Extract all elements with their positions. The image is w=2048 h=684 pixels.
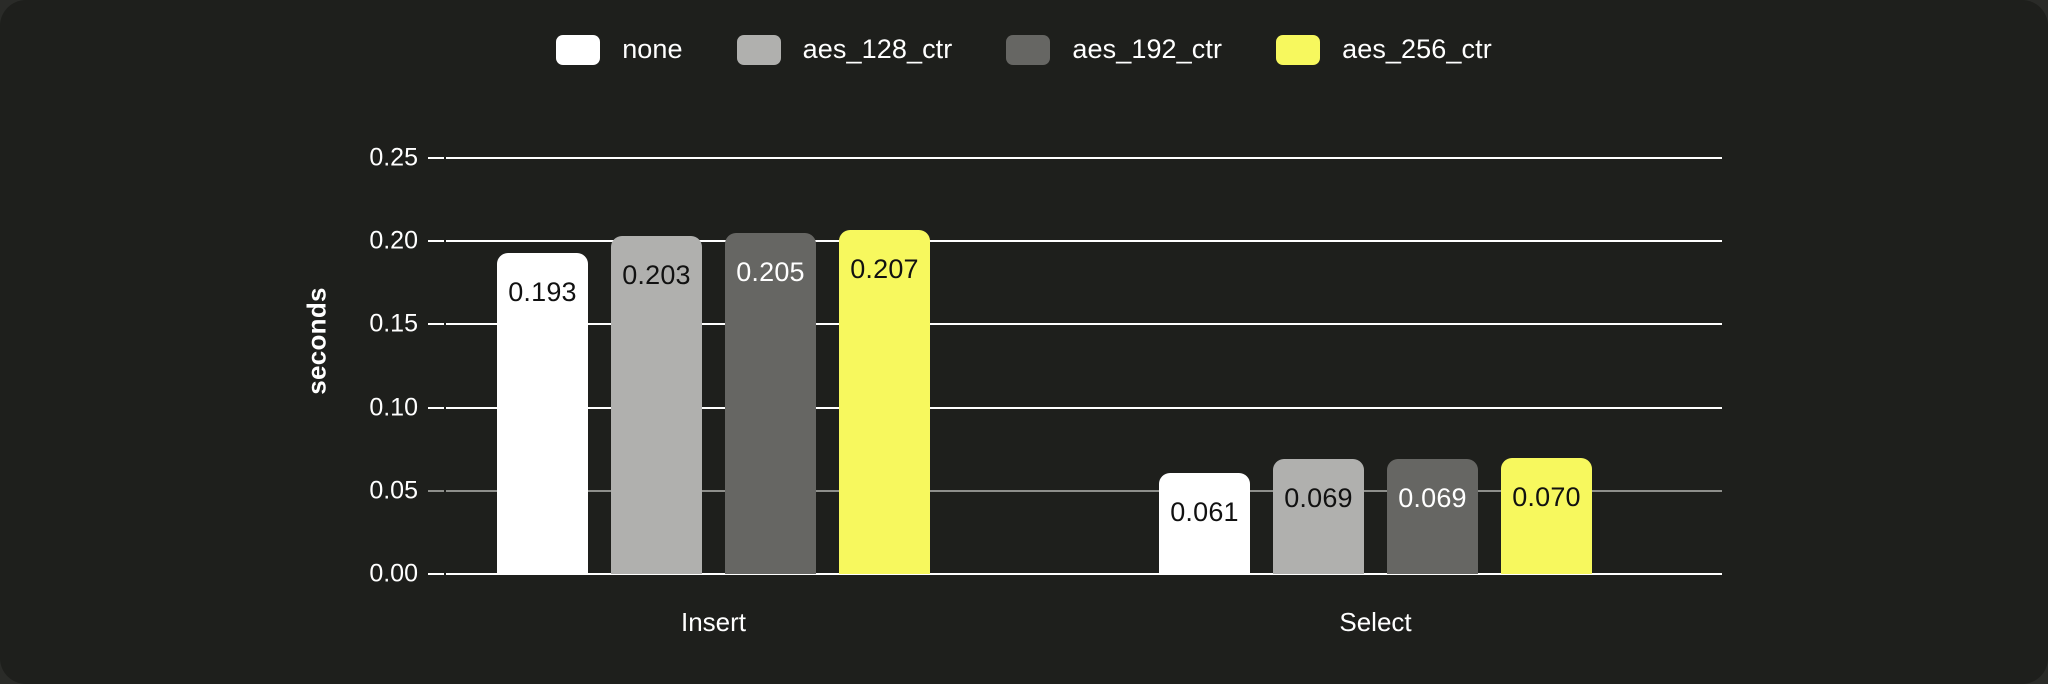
bar-insert-none[interactable]: 0.193 <box>497 253 588 574</box>
bar-insert-aes-128-ctr[interactable]: 0.203 <box>611 236 702 574</box>
legend-swatch-none <box>556 35 600 65</box>
bar-value-label: 0.069 <box>1387 483 1478 514</box>
y-tick-mark-0.10 <box>428 407 444 409</box>
gridline-0.25 <box>446 157 1722 159</box>
bar-select-aes-256-ctr[interactable]: 0.070 <box>1501 458 1592 574</box>
bar-value-label: 0.061 <box>1159 497 1250 528</box>
legend-label-aes-256-ctr: aes_256_ctr <box>1342 34 1492 65</box>
legend-item-aes-192-ctr[interactable]: aes_192_ctr <box>1006 34 1222 65</box>
plot-area: 0.000.050.100.150.200.25 0.1930.2030.205… <box>446 158 1722 574</box>
legend-label-none: none <box>622 34 682 65</box>
legend-label-aes-192-ctr: aes_192_ctr <box>1072 34 1222 65</box>
bar-value-label: 0.193 <box>497 277 588 308</box>
x-axis-label-insert: Insert <box>564 607 864 638</box>
chart-legend: none aes_128_ctr aes_192_ctr aes_256_ctr <box>0 34 2048 65</box>
legend-item-none[interactable]: none <box>556 34 682 65</box>
bar-value-label: 0.069 <box>1273 483 1364 514</box>
legend-item-aes-256-ctr[interactable]: aes_256_ctr <box>1276 34 1492 65</box>
bar-value-label: 0.207 <box>839 254 930 285</box>
y-axis-label: seconds <box>302 287 333 395</box>
bar-value-label: 0.070 <box>1501 482 1592 513</box>
y-tick-label-0.15: 0.15 <box>298 310 418 339</box>
y-tick-label-0.10: 0.10 <box>298 393 418 422</box>
chart-container: none aes_128_ctr aes_192_ctr aes_256_ctr… <box>0 0 2048 684</box>
y-tick-mark-0.15 <box>428 323 444 325</box>
legend-item-aes-128-ctr[interactable]: aes_128_ctr <box>737 34 953 65</box>
bar-value-label: 0.205 <box>725 257 816 288</box>
bar-select-aes-192-ctr[interactable]: 0.069 <box>1387 459 1478 574</box>
bar-select-none[interactable]: 0.061 <box>1159 473 1250 575</box>
y-tick-mark-0.05 <box>428 490 444 492</box>
legend-swatch-aes-256-ctr <box>1276 35 1320 65</box>
bar-select-aes-128-ctr[interactable]: 0.069 <box>1273 459 1364 574</box>
y-tick-label-0.00: 0.00 <box>298 560 418 589</box>
bar-insert-aes-192-ctr[interactable]: 0.205 <box>725 233 816 574</box>
bar-value-label: 0.203 <box>611 260 702 291</box>
x-axis-label-select: Select <box>1226 607 1526 638</box>
y-tick-mark-0.25 <box>428 157 444 159</box>
legend-swatch-aes-192-ctr <box>1006 35 1050 65</box>
y-tick-mark-0.20 <box>428 240 444 242</box>
bar-insert-aes-256-ctr[interactable]: 0.207 <box>839 230 930 574</box>
y-tick-mark-0.00 <box>428 573 444 575</box>
legend-swatch-aes-128-ctr <box>737 35 781 65</box>
y-tick-label-0.25: 0.25 <box>298 144 418 173</box>
y-tick-label-0.05: 0.05 <box>298 476 418 505</box>
legend-label-aes-128-ctr: aes_128_ctr <box>803 34 953 65</box>
y-tick-label-0.20: 0.20 <box>298 227 418 256</box>
